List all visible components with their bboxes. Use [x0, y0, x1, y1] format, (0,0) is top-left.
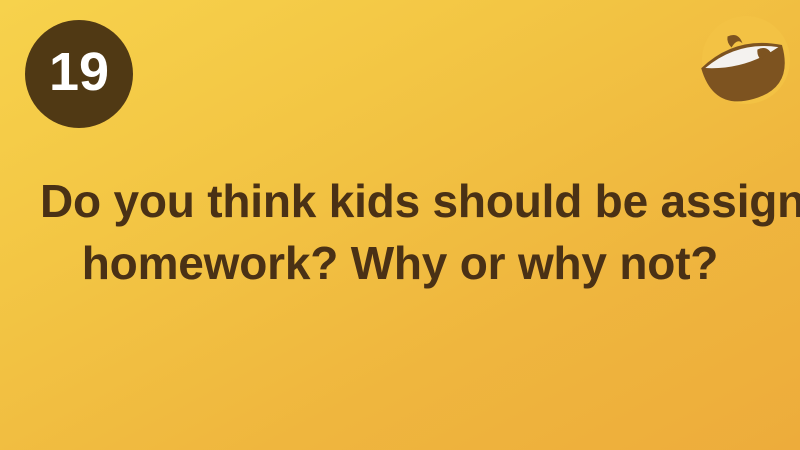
- question-text: Do you think kids should be assigned hom…: [40, 170, 760, 294]
- question-card-slide: 19 Do you think kids should be assigned …: [0, 0, 800, 450]
- question-line-1: Do you think kids should be assigned: [40, 170, 760, 232]
- grinning-face-with-smiling-eyes-icon: [700, 14, 792, 106]
- question-number-label: 19: [49, 45, 109, 99]
- question-number-badge: 19: [25, 20, 133, 128]
- question-line-2: homework? Why or why not?: [40, 232, 760, 294]
